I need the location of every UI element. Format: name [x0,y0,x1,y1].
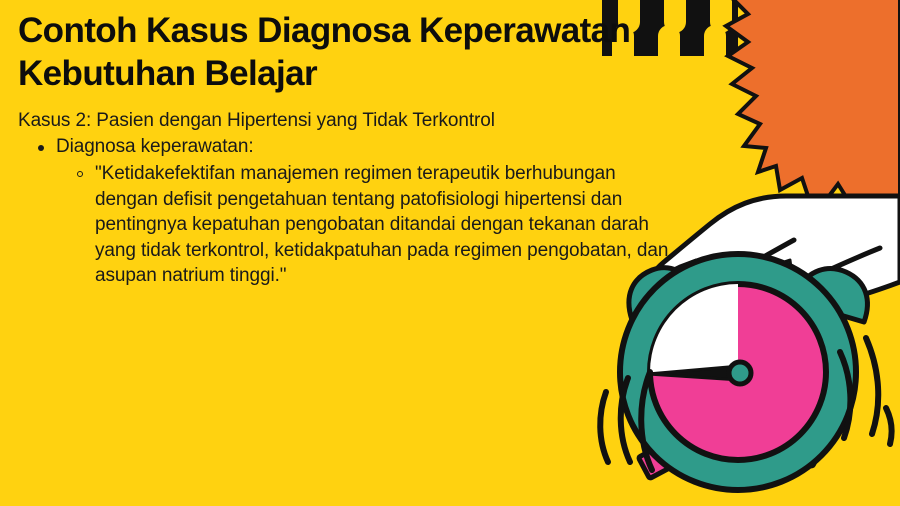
bullet-circle-icon [77,171,83,177]
list-item: Diagnosa keperawatan: "Ketidakefektifan … [38,135,672,289]
white-hand [648,196,900,304]
body-copy: Kasus 2: Pasien dengan Hipertensi yang T… [18,109,672,288]
bullet-disc-icon [38,145,44,151]
diagnosis-statement: "Ketidakefektifan manajemen regimen tera… [95,163,668,286]
clock-hand-pivot [729,362,751,384]
alarm-clock-face [648,284,826,460]
alarm-clock-body [620,254,856,490]
page-title: Contoh Kasus Diagnosa Keperawatan Kebutu… [18,10,643,95]
clock-hand [648,366,740,380]
text-content-block: Contoh Kasus Diagnosa Keperawatan Kebutu… [0,0,672,289]
case-lead-line: Kasus 2: Pasien dengan Hipertensi yang T… [18,109,672,133]
orange-jagged-hair [726,0,900,204]
clock-feet [638,429,823,478]
bullet-list-level2: "Ketidakefektifan manajemen regimen tera… [56,161,672,288]
slide-canvas: Contoh Kasus Diagnosa Keperawatan Kebutu… [0,0,900,506]
bullet-label: Diagnosa keperawatan: [56,136,254,157]
bullet-list-level1: Diagnosa keperawatan: "Ketidakefektifan … [18,135,672,289]
list-item: "Ketidakefektifan manajemen regimen tera… [77,161,672,288]
motion-lines [600,338,891,470]
